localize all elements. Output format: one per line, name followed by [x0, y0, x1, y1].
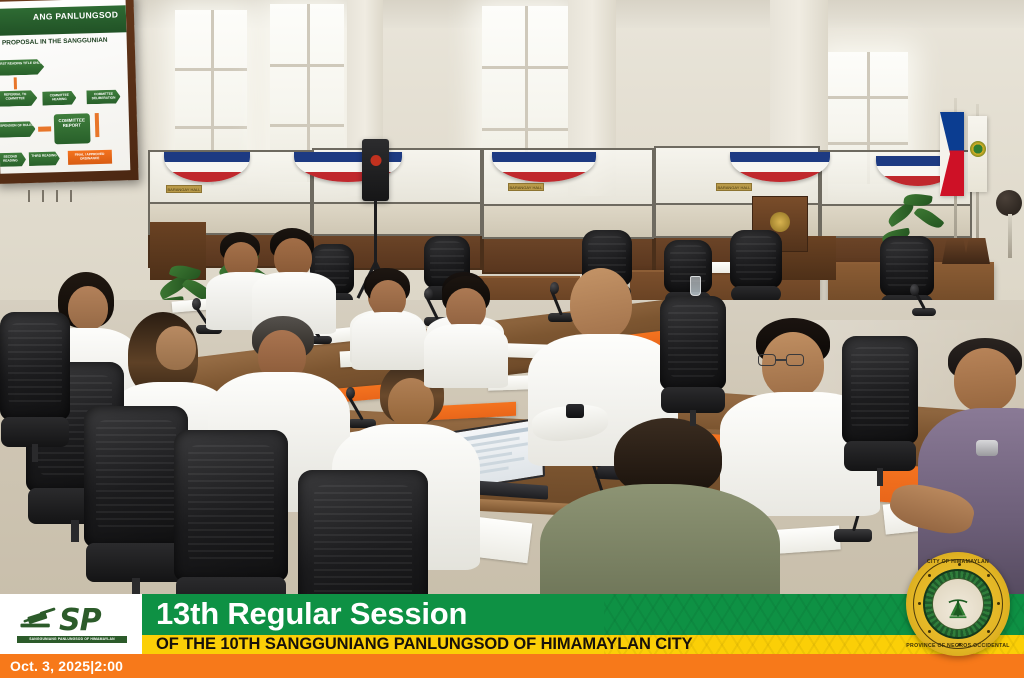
partition-nameplate-1: BARANGAY HALL	[166, 185, 202, 193]
session-photograph: BARANGAY HALL BARANGAY HALL BARANGAY HAL…	[0, 0, 1024, 678]
side-chair-center	[660, 296, 726, 426]
poster-header-text: ANG PANLUNGSOD	[33, 9, 119, 21]
eyeglasses-right-official	[758, 354, 804, 366]
poster-arrow-2	[38, 126, 51, 132]
session-title: 13th Regular Session	[156, 593, 467, 635]
background-chair-4	[730, 230, 782, 310]
council-member-center-2	[424, 276, 508, 382]
banner-green-band	[0, 594, 1024, 635]
wall-hooks	[28, 190, 84, 202]
city-flag	[968, 116, 987, 192]
poster-header: ANG PANLUNGSOD	[0, 5, 126, 36]
poster-committee-report-box: COMMITTEE REPORT	[53, 113, 90, 145]
pa-speaker	[362, 139, 389, 201]
round-sign-stand	[1008, 214, 1012, 258]
screenshot-root: BARANGAY HALL BARANGAY HALL BARANGAY HAL…	[0, 0, 1024, 678]
council-member-center-1	[352, 268, 426, 364]
seal-text-bottom: PROVINCE OF NEGROS OCCIDENTAL	[906, 643, 1010, 649]
foreground-chair-5	[0, 312, 70, 462]
seal-emblem-icon	[944, 597, 972, 623]
lower-third-banner: SP SANGGUNIANG PANLUNGSOD OF HIMAMAYLAN …	[0, 594, 1024, 678]
side-chair-right	[842, 336, 918, 486]
document-6	[472, 517, 532, 564]
poster-node-3: COMMITTEE HEARING	[42, 91, 76, 106]
poster-node-8: THIRD READING	[28, 152, 60, 167]
session-datetime: Oct. 3, 2025|2:00	[10, 654, 123, 678]
poster-node-6: SUSPENSION OF RULES	[0, 121, 36, 138]
round-wall-sign	[996, 190, 1022, 216]
wristwatch-right	[976, 440, 998, 456]
poster-node-1: FIRST READING TITLE ONLY	[0, 59, 44, 76]
seal-text-top: CITY OF HIMAMAYLAN	[906, 559, 1010, 565]
attendee-right-purple	[918, 338, 1024, 588]
city-seal: CITY OF HIMAMAYLAN PROVINCE OF NEGROS OC…	[906, 552, 1010, 656]
poster-node-9: FINAL / APPROVED ORDINANCE	[67, 150, 112, 165]
wristwatch	[566, 404, 584, 418]
poster-arrow-3	[95, 113, 100, 137]
microphone-9	[912, 286, 936, 316]
foreground-chair-2	[84, 406, 188, 602]
gavel-icon	[19, 607, 63, 633]
poster-node-2: REFERRAL TO COMMITTEE	[0, 90, 37, 107]
philippine-flag	[940, 112, 964, 196]
speaker-led-icon	[370, 155, 381, 166]
sp-logo-box: SP SANGGUNIANG PANLUNGSOD OF HIMAMAYLAN	[0, 594, 142, 654]
session-subtitle: OF THE 10TH SANGGUNIANG PANLUNGSOD OF HI…	[156, 634, 692, 655]
poster-node-4: COMMITTEE DELIBERATION	[86, 90, 120, 105]
legislative-process-poster: ANG PANLUNGSOD PROPOSAL IN THE SANGGUNIA…	[0, 0, 130, 174]
banner-orange-band	[0, 654, 1024, 678]
water-glass-3	[690, 276, 701, 296]
partition-nameplate-3: BARANGAY HALL	[716, 183, 752, 191]
poster-node-7: SECOND READING	[0, 152, 26, 167]
sp-acronym: SP	[59, 603, 101, 638]
poster-arrow-1	[13, 77, 17, 89]
sp-logo-subtitle: SANGGUNIANG PANLUNGSOD OF HIMAMAYLAN	[17, 636, 127, 643]
poster-subtitle: PROPOSAL IN THE SANGGUNIAN	[2, 36, 122, 46]
partition-nameplate-2: BARANGAY HALL	[508, 183, 544, 191]
poster-frame: ANG PANLUNGSOD PROPOSAL IN THE SANGGUNIA…	[0, 0, 139, 184]
